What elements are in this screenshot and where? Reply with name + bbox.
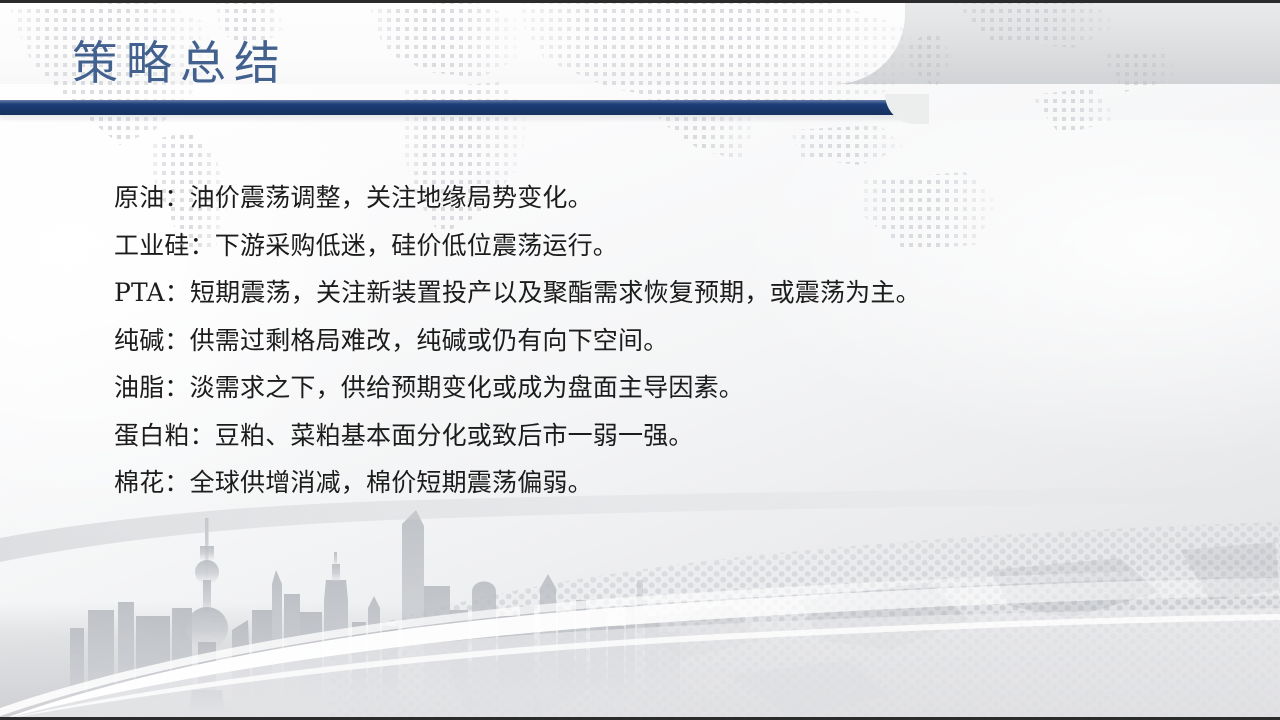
slide: 策略总结 原油：油价震荡调整，关注地缘局势变化。 工业硅：下游采购低迷，硅价低位… bbox=[0, 0, 1280, 720]
title-accent-bar bbox=[0, 96, 930, 122]
page-title: 策略总结 bbox=[72, 34, 288, 92]
summary-item-industrial-silicon: 工业硅：下游采购低迷，硅价低位震荡运行。 bbox=[114, 222, 1204, 270]
summary-item-oils-fats: 油脂：淡需求之下，供给预期变化或成为盘面主导因素。 bbox=[114, 364, 1204, 412]
summary-list: 原油：油价震荡调整，关注地缘局势变化。 工业硅：下游采购低迷，硅价低位震荡运行。… bbox=[114, 174, 1204, 507]
summary-item-crude-oil: 原油：油价震荡调整，关注地缘局势变化。 bbox=[114, 174, 1204, 222]
summary-item-pta: PTA：短期震荡，关注新装置投产以及聚酯需求恢复预期，或震荡为主。 bbox=[114, 269, 1204, 317]
summary-item-protein-meal: 蛋白粕：豆粕、菜粕基本面分化或致后市一弱一强。 bbox=[114, 412, 1204, 460]
summary-item-soda-ash: 纯碱：供需过剩格局难改，纯碱或仍有向下空间。 bbox=[114, 317, 1204, 365]
summary-item-cotton: 棉花：全球供增消减，棉价短期震荡偏弱。 bbox=[114, 459, 1204, 507]
accent-bar-fill bbox=[0, 100, 908, 115]
top-edge-line bbox=[0, 0, 1280, 3]
